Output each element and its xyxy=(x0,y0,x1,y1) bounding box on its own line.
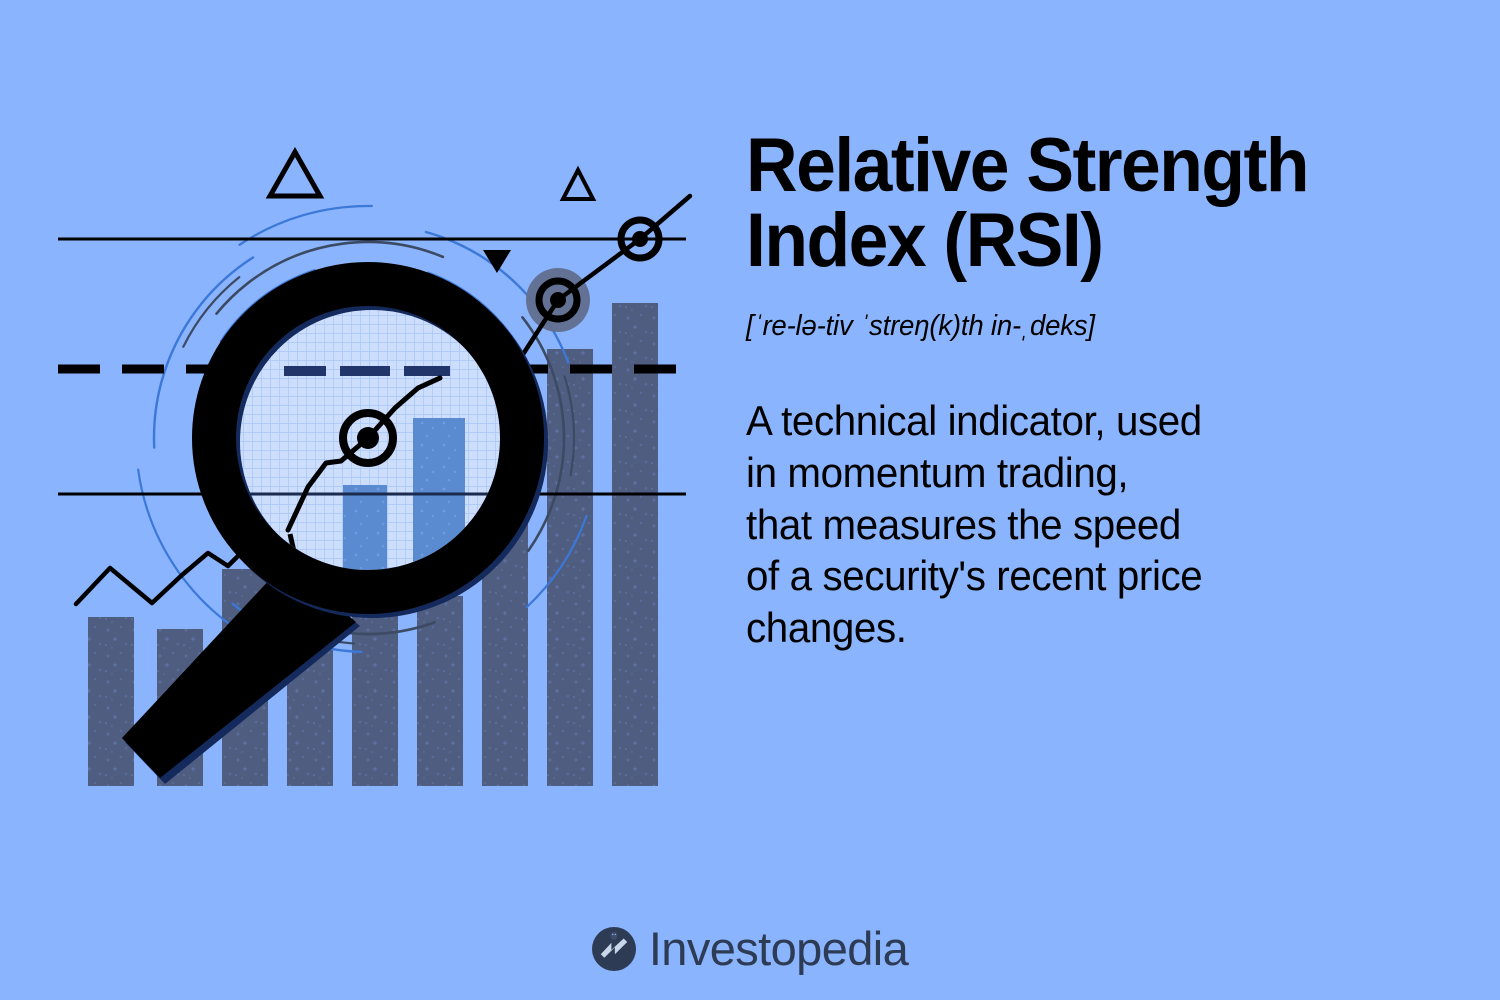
investopedia-logo: Investopedia xyxy=(0,925,1500,972)
page-title: Relative Strength Index (RSI) xyxy=(746,128,1413,278)
investopedia-circle-logo-icon xyxy=(592,927,636,971)
illustration-magnifying-glass-chart xyxy=(0,0,720,900)
triangle-up-large-icon xyxy=(270,152,320,196)
text-column: Relative Strength Index (RSI) [ˈre-lə-ti… xyxy=(746,128,1456,654)
definition-text: A technical indicator, used in momentum … xyxy=(746,395,1428,653)
triangle-up-small-icon xyxy=(563,170,593,199)
pronunciation-text: [ˈre-lə-tiv ˈstreŋ(k)th in-ˌdeks] xyxy=(746,310,1421,343)
trend-line xyxy=(500,196,690,390)
infographic-card: Relative Strength Index (RSI) [ˈre-lə-ti… xyxy=(0,0,1500,1000)
brand-name: Investopedia xyxy=(649,925,908,972)
